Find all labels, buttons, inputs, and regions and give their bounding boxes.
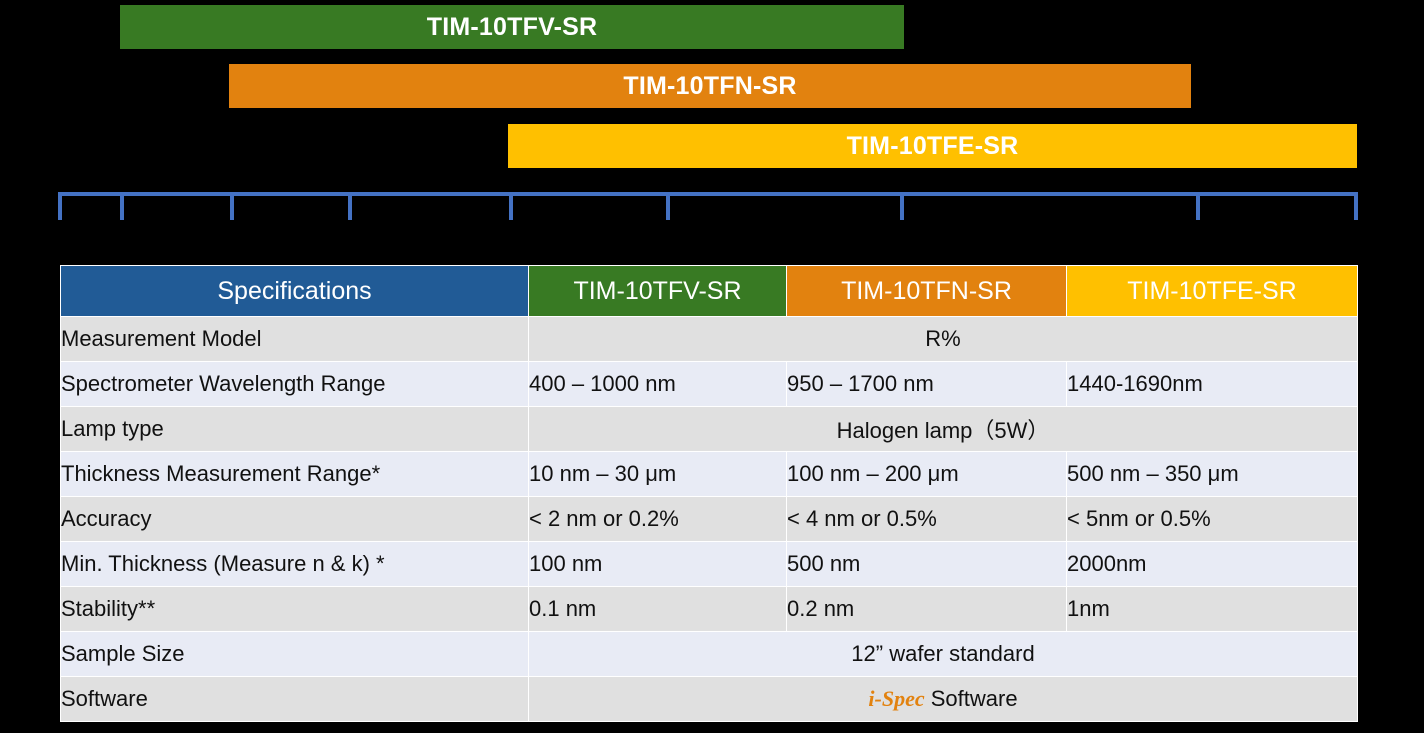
spec-merged-value-cell: i-Spec Software — [529, 677, 1358, 722]
range-bar-tim-10tfn-sr: TIM-10TFN-SR — [229, 64, 1191, 108]
column-header-tim-10tfn-sr: TIM-10TFN-SR — [787, 266, 1067, 317]
spec-merged-value-cell: 12” wafer standard — [529, 632, 1358, 677]
axis-tick-4 — [509, 192, 513, 220]
spec-label-cell: Measurement Model — [61, 317, 529, 362]
column-header-specifications: Specifications — [61, 266, 529, 317]
axis-tick-3 — [348, 192, 352, 220]
spec-value-cell: 100 nm – 200 μm — [787, 452, 1067, 497]
table-row: Stability**0.1 nm0.2 nm1nm — [61, 587, 1358, 632]
spec-value-cell: 0.1 nm — [529, 587, 787, 632]
table-row: Accuracy< 2 nm or 0.2%< 4 nm or 0.5%< 5n… — [61, 497, 1358, 542]
column-header-tim-10tfe-sr: TIM-10TFE-SR — [1067, 266, 1358, 317]
spec-label-cell: Sample Size — [61, 632, 529, 677]
spec-value-cell: < 5nm or 0.5% — [1067, 497, 1358, 542]
table-row: Sample Size12” wafer standard — [61, 632, 1358, 677]
range-diagram: TIM-10TFV-SR TIM-10TFN-SR TIM-10TFE-SR — [0, 0, 1424, 240]
specifications-table-body: Measurement ModelR%Spectrometer Waveleng… — [61, 317, 1358, 722]
spec-value-cell: 1nm — [1067, 587, 1358, 632]
table-header-row: Specifications TIM-10TFV-SR TIM-10TFN-SR… — [61, 266, 1358, 317]
axis-tick-0 — [58, 192, 62, 220]
software-suffix-text: Software — [925, 686, 1018, 711]
spec-label-cell: Stability** — [61, 587, 529, 632]
table-row: Measurement ModelR% — [61, 317, 1358, 362]
range-bar-label-tfv: TIM-10TFV-SR — [427, 13, 597, 42]
spec-merged-value-cell: R% — [529, 317, 1358, 362]
range-bar-tim-10tfe-sr: TIM-10TFE-SR — [508, 124, 1357, 168]
spec-label-cell: Spectrometer Wavelength Range — [61, 362, 529, 407]
spec-label-cell: Accuracy — [61, 497, 529, 542]
spec-merged-value-cell: Halogen lamp（5W） — [529, 407, 1358, 452]
table-row: Lamp typeHalogen lamp（5W） — [61, 407, 1358, 452]
spec-label-cell: Thickness Measurement Range* — [61, 452, 529, 497]
axis-tick-1 — [120, 192, 124, 220]
spec-value-cell: 400 – 1000 nm — [529, 362, 787, 407]
spec-value-cell: 500 nm — [787, 542, 1067, 587]
spec-value-cell: 500 nm – 350 μm — [1067, 452, 1358, 497]
range-bar-tim-10tfv-sr: TIM-10TFV-SR — [120, 5, 904, 49]
spec-label-cell: Software — [61, 677, 529, 722]
spec-label-cell: Lamp type — [61, 407, 529, 452]
table-row: Softwarei-Spec Software — [61, 677, 1358, 722]
spec-value-cell: 100 nm — [529, 542, 787, 587]
spec-value-cell: < 4 nm or 0.5% — [787, 497, 1067, 542]
spec-value-cell: 10 nm – 30 μm — [529, 452, 787, 497]
axis-tick-2 — [230, 192, 234, 220]
range-axis-line — [58, 192, 1358, 196]
spec-value-cell: 1440-1690nm — [1067, 362, 1358, 407]
spec-label-cell: Min. Thickness (Measure n & k) * — [61, 542, 529, 587]
specifications-table: Specifications TIM-10TFV-SR TIM-10TFN-SR… — [60, 265, 1358, 722]
table-row: Spectrometer Wavelength Range400 – 1000 … — [61, 362, 1358, 407]
axis-tick-8 — [1354, 192, 1358, 220]
spec-value-cell: 0.2 nm — [787, 587, 1067, 632]
column-header-tim-10tfv-sr: TIM-10TFV-SR — [529, 266, 787, 317]
range-bar-label-tfn: TIM-10TFN-SR — [623, 72, 796, 101]
table-row: Min. Thickness (Measure n & k) *100 nm50… — [61, 542, 1358, 587]
spec-value-cell: < 2 nm or 0.2% — [529, 497, 787, 542]
table-row: Thickness Measurement Range*10 nm – 30 μ… — [61, 452, 1358, 497]
spec-value-cell: 2000nm — [1067, 542, 1358, 587]
range-bar-label-tfe: TIM-10TFE-SR — [847, 132, 1019, 161]
range-axis — [58, 192, 1358, 224]
axis-tick-5 — [666, 192, 670, 220]
axis-tick-6 — [900, 192, 904, 220]
axis-tick-7 — [1196, 192, 1200, 220]
spec-value-cell: 950 – 1700 nm — [787, 362, 1067, 407]
ispec-brand-text: i-Spec — [868, 686, 924, 711]
